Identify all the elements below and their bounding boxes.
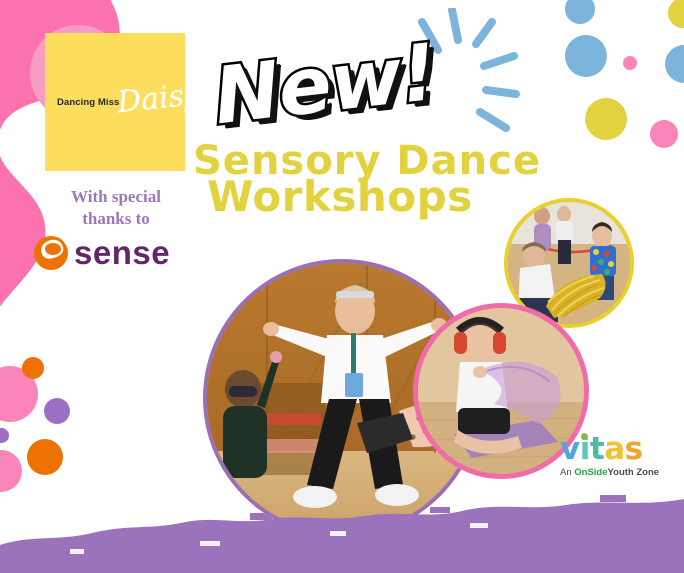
thanks-line-1: With special	[20, 186, 212, 208]
dot-purple-left-1	[44, 398, 70, 424]
vitas-letter-t: t	[590, 431, 604, 467]
vitas-tagline-brand: OnSide	[574, 467, 607, 478]
vitas-letter-v: v	[560, 431, 580, 467]
dot-orange-left-1	[22, 357, 44, 379]
vitas-logo: vitas An OnSideYouth Zone	[560, 434, 678, 484]
sense-wordmark: sense	[74, 234, 170, 272]
poster-canvas: Dancing Miss Daisy With special thanks t…	[0, 0, 684, 573]
dot-yellow-top-1	[668, 0, 684, 28]
dot-yellow-top-2	[585, 98, 627, 140]
dot-pink-top-1	[623, 56, 637, 70]
brand-script-text: Daisy	[115, 77, 202, 121]
dot-purple-left-2	[0, 428, 9, 443]
vitas-wordmark: vitas	[560, 434, 643, 465]
headline-subtitle-line-2: Workshops	[207, 172, 473, 221]
headline-new: New!	[210, 28, 441, 143]
vitas-tagline: An OnSideYouth Zone	[560, 467, 659, 478]
thanks-block: With special thanks to	[20, 186, 212, 230]
dancing-miss-daisy-logo: Dancing Miss Daisy	[55, 88, 180, 122]
dot-blue-top-1	[565, 0, 595, 24]
dot-blue-top-2	[565, 35, 607, 77]
brand-prefix-text: Dancing Miss	[57, 97, 119, 108]
dot-pink-top-2	[650, 120, 678, 148]
dot-blue-top-3	[665, 45, 684, 83]
dot-orange-left-2	[27, 439, 63, 475]
vitas-tagline-prefix: An	[560, 467, 574, 478]
dancing-miss-daisy-card: Dancing Miss Daisy	[45, 33, 185, 171]
sense-swoosh-icon	[34, 236, 68, 270]
purple-brush-stroke	[0, 483, 684, 573]
vitas-tagline-suffix: Youth Zone	[608, 467, 660, 478]
sense-logo: sense	[34, 234, 194, 274]
vitas-letter-s: s	[625, 431, 643, 467]
vitas-letter-a: a	[604, 431, 624, 467]
thanks-line-2: thanks to	[20, 208, 212, 230]
vitas-green-dot-icon	[581, 433, 588, 440]
